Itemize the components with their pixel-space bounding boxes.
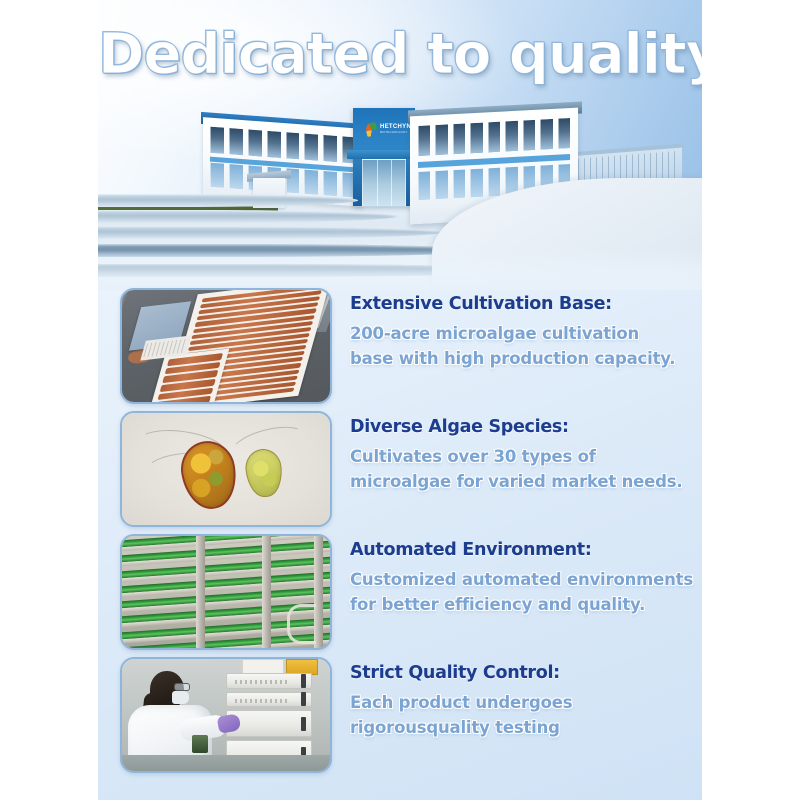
company-sign-text: HETCHYN BIOTECHNOLOGY	[380, 124, 411, 134]
feature-card-text: Automated Environment: Customized automa…	[332, 534, 688, 617]
window	[229, 128, 243, 155]
window	[286, 132, 300, 159]
window	[304, 134, 318, 161]
window	[540, 119, 552, 150]
leaf-logo-icon	[365, 121, 378, 136]
feature-card-body: Cultivates over 30 types of microalgae f…	[350, 444, 688, 494]
company-subtitle: BIOTECHNOLOGY	[380, 131, 411, 134]
window	[418, 125, 430, 156]
feature-card: Automated Environment: Customized automa…	[98, 534, 702, 654]
company-sign: HETCHYN BIOTECHNOLOGY	[366, 120, 412, 138]
window	[248, 129, 262, 156]
body-line: Each product undergoes	[350, 690, 688, 715]
feature-card-heading: Automated Environment:	[350, 540, 688, 561]
feature-card-heading: Diverse Algae Species:	[350, 417, 688, 438]
window	[435, 124, 447, 155]
feature-card-text: Extensive Cultivation Base: 200-acre mic…	[332, 288, 688, 371]
window	[558, 118, 570, 149]
window	[323, 135, 337, 162]
body-line: Customized automated environments	[350, 567, 688, 592]
body-line: for better efficiency and quality.	[350, 592, 688, 617]
feature-card-text: Diverse Algae Species: Cultivates over 3…	[332, 411, 688, 494]
feature-card-list: Extensive Cultivation Base: 200-acre mic…	[98, 288, 702, 777]
feature-card-body: Each product undergoes rigorousquality t…	[350, 690, 688, 740]
pond-lane	[98, 226, 446, 239]
body-line: Cultivates over 30 types of	[350, 444, 688, 469]
pond-lane	[98, 194, 361, 207]
microscopy-algae-cells-photo	[120, 411, 332, 527]
window	[470, 123, 482, 154]
feature-card-body: 200-acre microalgae cultivation base wit…	[350, 321, 688, 371]
lab-technician-hplc-photo	[120, 657, 332, 773]
window	[229, 164, 243, 189]
window	[523, 120, 535, 151]
poster-page: HETCHYN BIOTECHNOLOGY	[0, 0, 800, 800]
feature-card-text: Strict Quality Control: Each product und…	[332, 657, 688, 740]
feature-card-heading: Extensive Cultivation Base:	[350, 294, 688, 315]
feature-card-body: Customized automated environments for be…	[350, 567, 688, 617]
feature-card: Strict Quality Control: Each product und…	[98, 657, 702, 777]
content-column: HETCHYN BIOTECHNOLOGY	[98, 0, 702, 800]
feature-card: Extensive Cultivation Base: 200-acre mic…	[98, 288, 702, 408]
window	[505, 121, 517, 152]
hero-banner: HETCHYN BIOTECHNOLOGY	[98, 0, 702, 290]
body-line: rigorousquality testing	[350, 715, 688, 740]
window	[267, 131, 281, 158]
hero-bottom-fade	[98, 248, 702, 290]
body-line: base with high production capacity.	[350, 346, 688, 371]
pond-lane	[98, 210, 401, 223]
page-title: Dedicated to quality	[98, 22, 702, 87]
aerial-cultivation-ponds-photo	[120, 288, 332, 404]
body-line: microalgae for varied market needs.	[350, 469, 688, 494]
feature-card-heading: Strict Quality Control:	[350, 663, 688, 684]
body-line: 200-acre microalgae cultivation	[350, 321, 688, 346]
window	[210, 127, 224, 154]
feature-card: Diverse Algae Species: Cultivates over 3…	[98, 411, 702, 531]
window	[453, 124, 465, 155]
window	[304, 170, 318, 195]
window	[488, 122, 500, 153]
window	[210, 163, 224, 188]
photobioreactor-tubes-photo	[120, 534, 332, 650]
